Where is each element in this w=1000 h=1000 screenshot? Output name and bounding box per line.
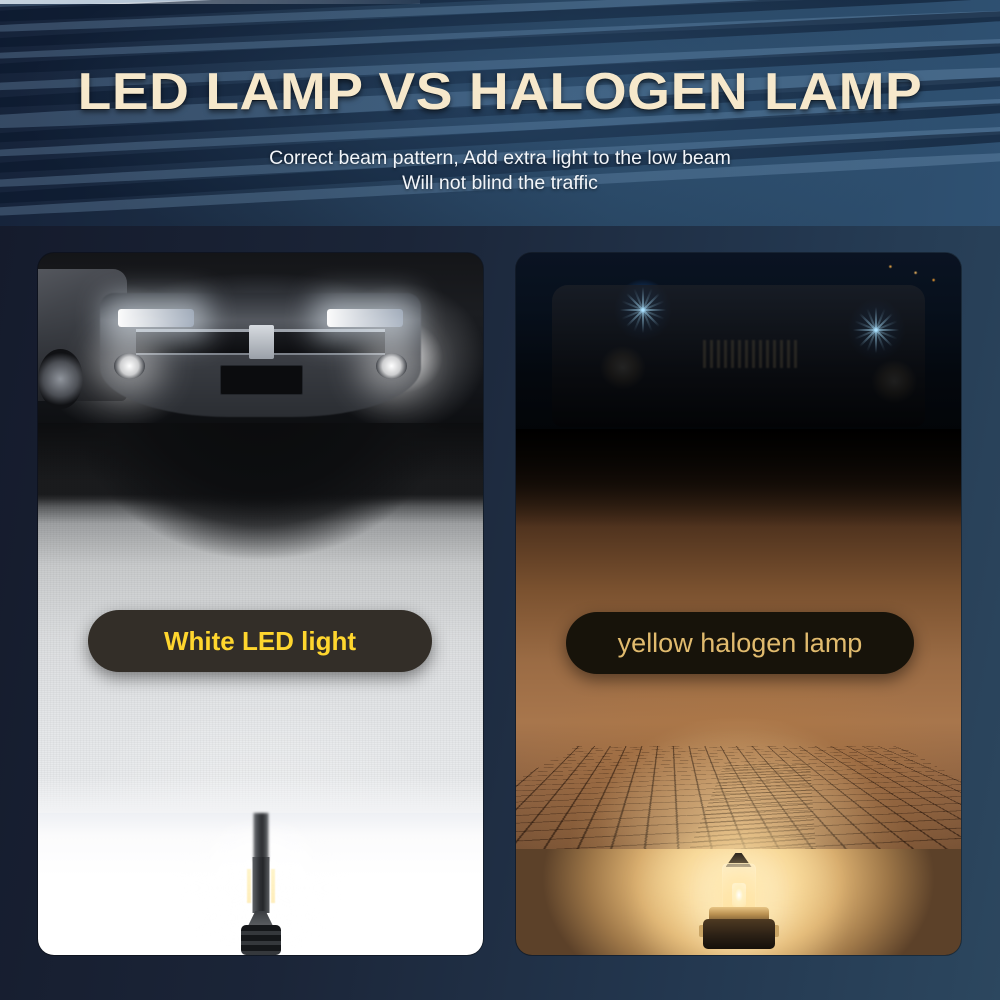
promo-page: LED LAMP VS HALOGEN LAMP Correct beam pa… bbox=[0, 0, 1000, 1000]
led-comparison-panel[interactable] bbox=[38, 253, 483, 955]
led-headlight-left bbox=[118, 309, 194, 327]
halogen-bulb-base bbox=[703, 919, 775, 949]
led-bulb bbox=[240, 813, 282, 955]
background-amber-lights bbox=[876, 261, 947, 289]
led-bulb-chip bbox=[252, 857, 269, 913]
led-foglight-left bbox=[114, 353, 145, 379]
led-label-badge: White LED light bbox=[88, 610, 432, 672]
page-subtitle: Correct beam pattern, Add extra light to… bbox=[0, 146, 1000, 196]
led-bulb-base bbox=[241, 925, 281, 955]
led-bulb-shaft bbox=[253, 813, 268, 861]
halogen-bulb-photo bbox=[516, 849, 961, 955]
led-emitter-right bbox=[271, 869, 275, 903]
page-title: LED LAMP VS HALOGEN LAMP bbox=[0, 62, 1000, 122]
halogen-label-badge: yellow halogen lamp bbox=[566, 612, 914, 674]
led-headlight-right bbox=[327, 309, 403, 327]
led-emitter-left bbox=[247, 869, 251, 903]
halogen-comparison-panel[interactable] bbox=[516, 253, 961, 955]
subtitle-line-1: Correct beam pattern, Add extra light to… bbox=[269, 147, 731, 169]
halogen-filament bbox=[732, 883, 746, 907]
subtitle-line-2: Will not blind the traffic bbox=[0, 171, 1000, 196]
halogen-night-photo bbox=[516, 253, 961, 451]
halogen-bulb bbox=[691, 853, 787, 953]
led-bulb-photo bbox=[38, 813, 483, 955]
grille-detail bbox=[703, 340, 801, 368]
license-plate bbox=[220, 365, 302, 395]
honda-emblem-icon bbox=[249, 325, 273, 359]
background-car-wheel bbox=[38, 349, 83, 409]
